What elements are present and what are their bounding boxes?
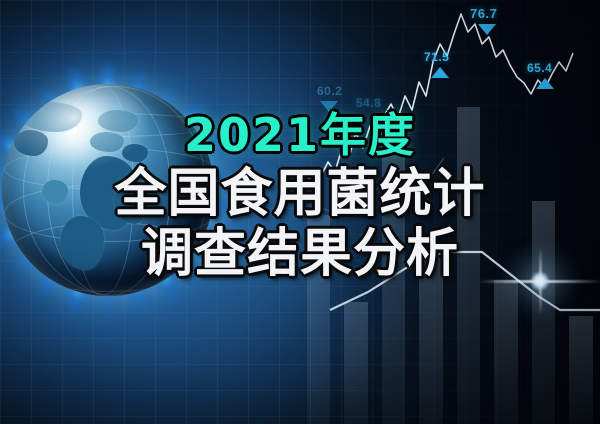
promo-banner: 60.2 54.8 71.5 76.7 65.4 2021年度 全国食用菌统计 … xyxy=(0,0,600,424)
title-line-main: 全国食用菌统计 xyxy=(0,168,600,220)
banner-title: 2021年度 全国食用菌统计 调查结果分析 xyxy=(0,112,600,280)
title-line-sub: 调查结果分析 xyxy=(0,228,600,280)
title-line-year: 2021年度 xyxy=(0,112,600,158)
